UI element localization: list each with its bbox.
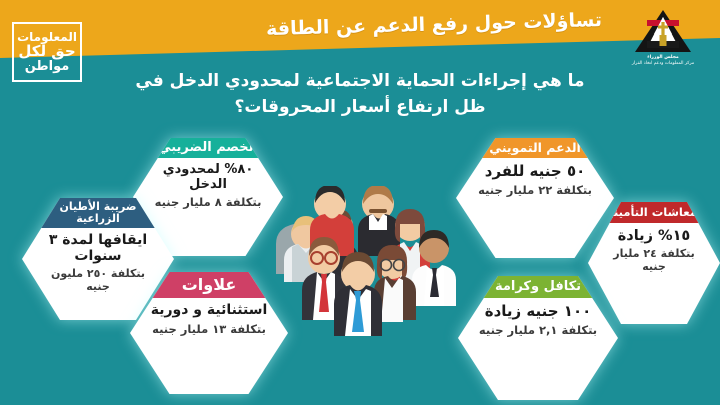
card-allowances-cost: بتكلفة ١٣ مليار جنيه bbox=[152, 323, 266, 336]
emblem-line-2: مركز المعلومات ودعم اتخاذ القرار bbox=[620, 61, 706, 67]
infographic-canvas: تساؤلات حول رفع الدعم عن الطاقة مجلس الو… bbox=[0, 0, 720, 405]
pyramid-emblem-icon bbox=[633, 8, 693, 54]
card-takaful-karama-header: تكافل وكرامة bbox=[458, 276, 618, 298]
card-tax-discount-header: الخصم الضريبي bbox=[133, 138, 283, 158]
card-insurance-pensions-cost: بتكلفة ٢٤ مليار جنيه bbox=[604, 248, 704, 273]
card-allowances-header: علاوات bbox=[130, 272, 288, 298]
card-insurance-pensions-value: ١٥% زيادة bbox=[618, 228, 691, 244]
card-allowances-value: استثنائية و دورية bbox=[151, 303, 268, 319]
crowd-of-people-illustration bbox=[268, 186, 458, 336]
logo-line-2: حق لكل bbox=[18, 44, 75, 59]
card-tax-discount-value: ٨٠% لمحدودي الدخل bbox=[149, 163, 267, 192]
card-food-subsidy-cost: بتكلفة ٢٢ مليار جنيه bbox=[478, 184, 592, 197]
headline-line-1: ما هي إجراءات الحماية الاجتماعية لمحدودي… bbox=[70, 68, 650, 94]
card-takaful-karama-value: ١٠٠ جنيه زيادة bbox=[485, 303, 592, 320]
headline-line-2: ظل ارتفاع أسعار المحروقات؟ bbox=[70, 94, 650, 120]
page-title: ما هي إجراءات الحماية الاجتماعية لمحدودي… bbox=[0, 68, 720, 120]
card-food-subsidy-value: ٥٠ جنيه للفرد bbox=[485, 163, 586, 180]
card-food-subsidy-header: الدعم التمويني bbox=[456, 138, 614, 158]
card-agricultural-land-tax-value: ايقافها لمدة ٣ سنوات bbox=[38, 233, 158, 264]
card-takaful-karama-cost: بتكلفة ٢,١ مليار جنيه bbox=[479, 324, 597, 337]
logo-line-3: مواطن bbox=[25, 60, 70, 73]
card-agricultural-land-tax-header: ضريبة الأطيان الزراعية bbox=[22, 198, 174, 228]
card-allowances[interactable]: علاوات استثنائية و دورية بتكلفة ١٣ مليار… bbox=[130, 272, 288, 394]
card-insurance-pensions-header: المعاشات التأمينية bbox=[588, 202, 720, 223]
information-right-logo: المعلومات حق لكل مواطن bbox=[12, 22, 82, 82]
cabinet-emblem: مجلس الوزراء مركز المعلومات ودعم اتخاذ ا… bbox=[620, 8, 706, 70]
card-takaful-karama[interactable]: تكافل وكرامة ١٠٠ جنيه زيادة بتكلفة ٢,١ م… bbox=[458, 276, 618, 400]
